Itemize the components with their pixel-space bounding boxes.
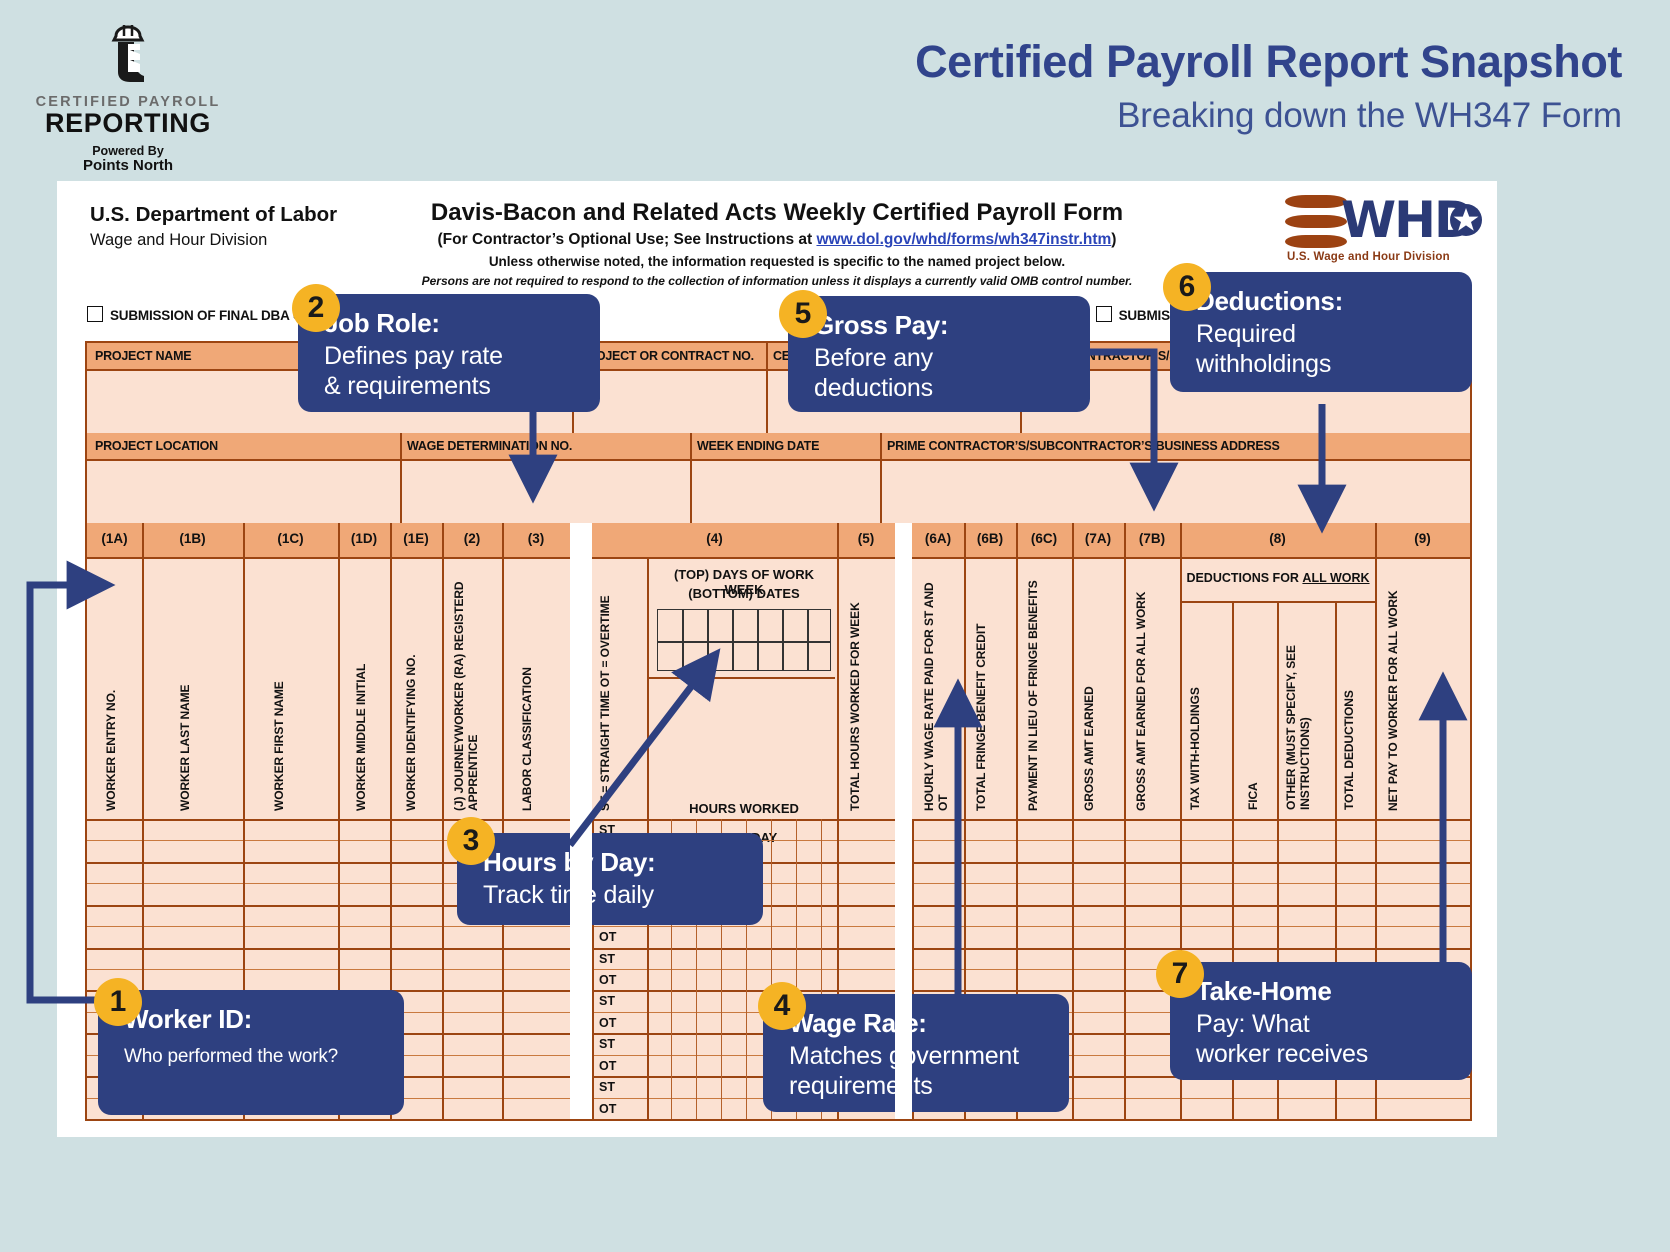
arrow-3 [570, 675, 700, 845]
infographic-canvas: CERTIFIED PAYROLL REPORTING Powered By P… [0, 0, 1670, 1252]
callout-5-badge: 5 [779, 290, 827, 338]
callout-1-badge: 1 [94, 978, 142, 1026]
arrow-1 [30, 585, 110, 1000]
callout-arrows [0, 0, 1670, 1252]
callout-3-badge: 3 [447, 817, 495, 865]
callout-6-badge: 6 [1163, 263, 1211, 311]
callout-4-badge: 4 [758, 982, 806, 1030]
callout-2-badge: 2 [292, 284, 340, 332]
arrow-5 [1090, 352, 1154, 478]
callout-7-badge: 7 [1156, 950, 1204, 998]
